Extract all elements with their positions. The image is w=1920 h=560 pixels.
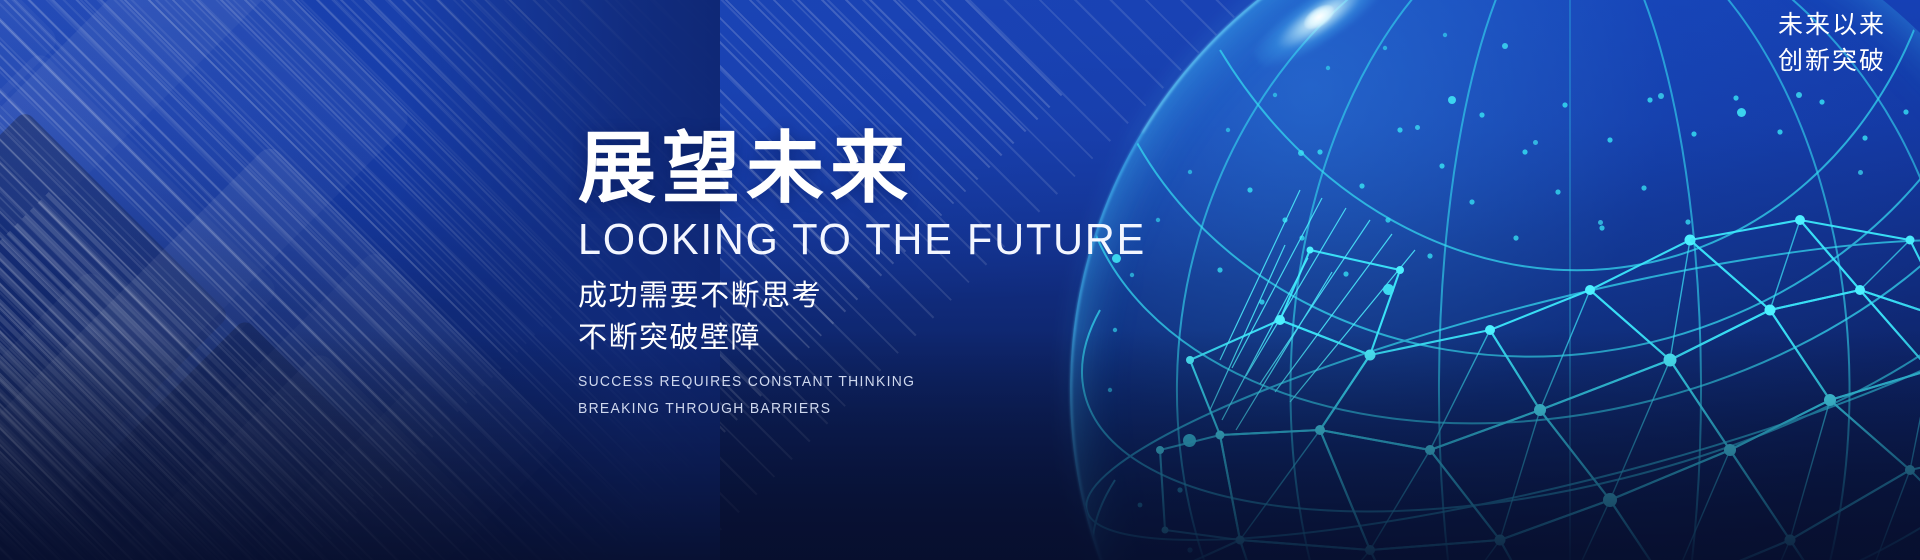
accent-dot: [1858, 170, 1863, 175]
subheading-chinese-line2: 不断突破壁障: [578, 318, 1178, 359]
subheading-chinese-line1: 成功需要不断思考: [578, 276, 1178, 317]
accent-dot: [1598, 220, 1603, 225]
accent-dot: [1796, 92, 1802, 98]
accent-dot: [1533, 140, 1538, 145]
accent-dot: [1690, 238, 1695, 243]
accent-dot: [1502, 43, 1508, 49]
headline-block: 展望未来 LOOKING TO THE FUTURE 成功需要不断思考 不断突破…: [578, 128, 1178, 422]
accent-dot: [1415, 125, 1420, 130]
accent-dot: [1298, 150, 1304, 156]
accent-dot: [1383, 284, 1394, 295]
corner-slogan: 未来以来 创新突破: [1778, 8, 1886, 79]
hero-banner: 未来以来 创新突破 展望未来 LOOKING TO THE FUTURE 成功需…: [0, 0, 1920, 560]
subheading-english-line1: SUCCESS REQUIRES CONSTANT THINKING: [578, 369, 1154, 396]
subheading-chinese: 成功需要不断思考 不断突破壁障: [578, 276, 1178, 358]
page-title: 展望未来: [578, 128, 1178, 209]
page-subtitle-english: LOOKING TO THE FUTURE: [578, 215, 1142, 264]
corner-slogan-line2: 创新突破: [1778, 44, 1886, 80]
subheading-english-line2: BREAKING THROUGH BARRIERS: [578, 396, 1154, 423]
accent-dot: [1737, 108, 1746, 117]
accent-dot: [1183, 434, 1196, 447]
subheading-english: SUCCESS REQUIRES CONSTANT THINKING BREAK…: [578, 369, 1154, 423]
corner-slogan-line1: 未来以来: [1778, 8, 1886, 44]
accent-dot: [1448, 96, 1456, 104]
accent-dot: [1658, 93, 1664, 99]
